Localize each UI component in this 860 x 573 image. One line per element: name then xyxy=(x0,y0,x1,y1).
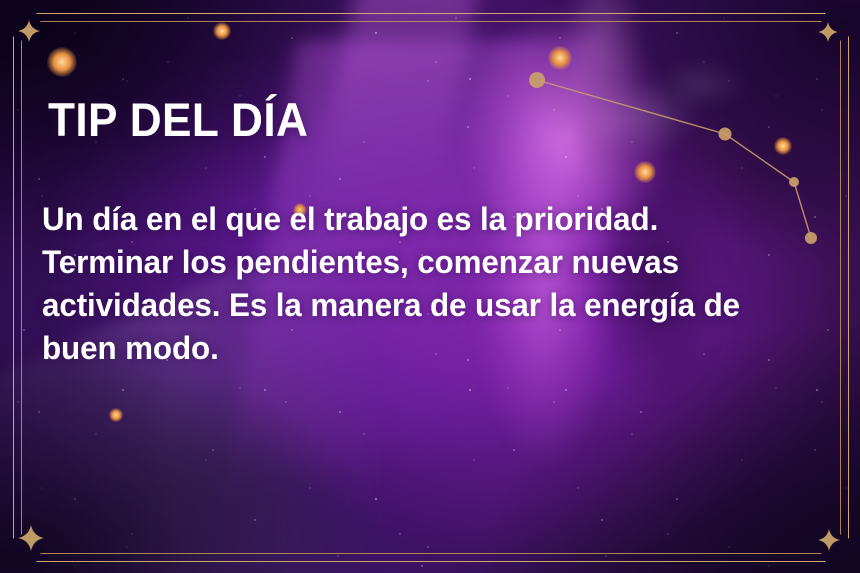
tip-of-the-day-card: TIP DEL DÍA Un día en el que el trabajo … xyxy=(0,0,860,573)
constellation-node-4 xyxy=(805,232,817,244)
constellation-edge xyxy=(537,80,725,134)
tip-body-line: Un día en el que el trabajo es la priori… xyxy=(42,198,775,241)
page-title: TIP DEL DÍA xyxy=(48,92,308,147)
constellation-edge xyxy=(794,182,811,238)
constellation-node-1 xyxy=(529,72,545,88)
constellation-edge xyxy=(725,134,794,182)
tip-body-text: Un día en el que el trabajo es la priori… xyxy=(42,198,775,370)
constellation-node-3 xyxy=(789,177,799,187)
tip-body-line: buen modo. xyxy=(42,327,775,370)
constellation-node-2 xyxy=(719,128,732,141)
tip-body-line: Terminar los pendientes, comenzar nuevas xyxy=(42,241,775,284)
tip-body-line: actividades. Es la manera de usar la ene… xyxy=(42,284,775,327)
